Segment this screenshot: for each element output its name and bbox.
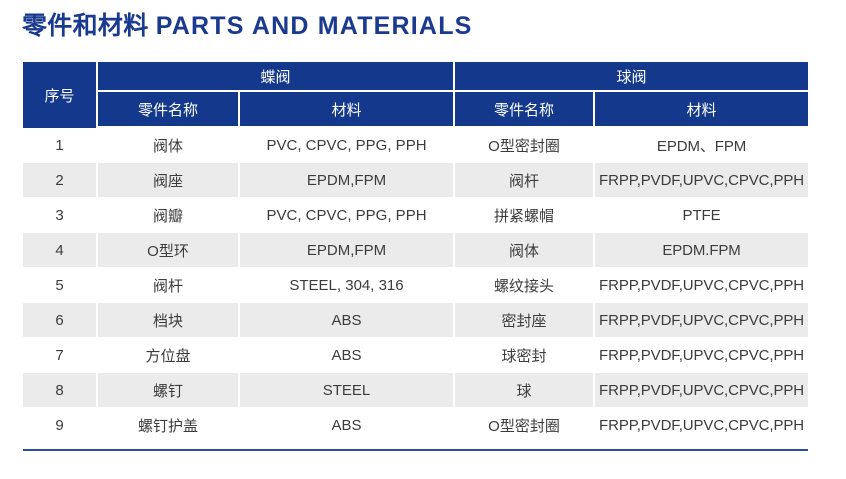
cell-ball-part-name: 阀体 bbox=[455, 233, 595, 268]
table-bottom-rule bbox=[23, 449, 808, 451]
table-row: 4O型环EPDM,FPM阀体EPDM.FPM bbox=[23, 233, 808, 268]
column-header-butterfly-material: 材料 bbox=[240, 92, 455, 128]
cell-butterfly-material: PVC, CPVC, PPG, PPH bbox=[240, 128, 455, 163]
cell-butterfly-part-name: 螺钉 bbox=[98, 373, 240, 408]
table-row: 3阀瓣PVC, CPVC, PPG, PPH拼紧螺帽PTFE bbox=[23, 198, 808, 233]
column-header-ball-part-name: 零件名称 bbox=[455, 92, 595, 128]
page-title-en: PARTS AND MATERIALS bbox=[156, 12, 473, 40]
column-header-seq: 序号 bbox=[23, 62, 98, 128]
cell-ball-material: FRPP,PVDF,UPVC,CPVC,PPH bbox=[595, 268, 808, 303]
cell-butterfly-part-name: 档块 bbox=[98, 303, 240, 338]
parts-and-materials-table: 序号 蝶阀 球阀 零件名称 材料 零件名称 材料 1阀体PVC, CPVC, P… bbox=[23, 62, 808, 443]
cell-seq: 8 bbox=[23, 373, 98, 408]
cell-seq: 5 bbox=[23, 268, 98, 303]
cell-ball-material: FRPP,PVDF,UPVC,CPVC,PPH bbox=[595, 163, 808, 198]
cell-butterfly-part-name: 阀瓣 bbox=[98, 198, 240, 233]
cell-ball-part-name: 阀杆 bbox=[455, 163, 595, 198]
cell-ball-part-name: 拼紧螺帽 bbox=[455, 198, 595, 233]
cell-butterfly-part-name: 阀座 bbox=[98, 163, 240, 198]
page-title-cn: 零件和材料 bbox=[22, 12, 149, 40]
table-row: 1阀体PVC, CPVC, PPG, PPHO型密封圈EPDM、FPM bbox=[23, 128, 808, 163]
parts-table-wrapper: 序号 蝶阀 球阀 零件名称 材料 零件名称 材料 1阀体PVC, CPVC, P… bbox=[23, 62, 808, 443]
column-group-header-butterfly-valve: 蝶阀 bbox=[98, 62, 455, 92]
cell-seq: 7 bbox=[23, 338, 98, 373]
table-header: 序号 蝶阀 球阀 零件名称 材料 零件名称 材料 bbox=[23, 62, 808, 128]
cell-ball-part-name: 螺纹接头 bbox=[455, 268, 595, 303]
table-row: 8螺钉STEEL球FRPP,PVDF,UPVC,CPVC,PPH bbox=[23, 373, 808, 408]
cell-butterfly-part-name: 阀杆 bbox=[98, 268, 240, 303]
cell-ball-material: FRPP,PVDF,UPVC,CPVC,PPH bbox=[595, 373, 808, 408]
cell-butterfly-part-name: 方位盘 bbox=[98, 338, 240, 373]
cell-butterfly-part-name: O型环 bbox=[98, 233, 240, 268]
cell-ball-part-name: O型密封圈 bbox=[455, 128, 595, 163]
cell-butterfly-material: PVC, CPVC, PPG, PPH bbox=[240, 198, 455, 233]
cell-seq: 4 bbox=[23, 233, 98, 268]
column-header-ball-material: 材料 bbox=[595, 92, 808, 128]
table-row: 5阀杆STEEL, 304, 316螺纹接头FRPP,PVDF,UPVC,CPV… bbox=[23, 268, 808, 303]
cell-seq: 9 bbox=[23, 408, 98, 443]
cell-ball-material: FRPP,PVDF,UPVC,CPVC,PPH bbox=[595, 408, 808, 443]
cell-seq: 1 bbox=[23, 128, 98, 163]
cell-butterfly-material: ABS bbox=[240, 408, 455, 443]
cell-ball-part-name: O型密封圈 bbox=[455, 408, 595, 443]
cell-butterfly-material: STEEL, 304, 316 bbox=[240, 268, 455, 303]
cell-butterfly-material: STEEL bbox=[240, 373, 455, 408]
cell-butterfly-material: ABS bbox=[240, 338, 455, 373]
column-group-header-ball-valve: 球阀 bbox=[455, 62, 808, 92]
page-title: 零件和材料 PARTS AND MATERIALS bbox=[22, 10, 473, 42]
cell-ball-material: FRPP,PVDF,UPVC,CPVC,PPH bbox=[595, 338, 808, 373]
table-header-row-groups: 序号 蝶阀 球阀 bbox=[23, 62, 808, 92]
cell-ball-material: FRPP,PVDF,UPVC,CPVC,PPH bbox=[595, 303, 808, 338]
table-row: 9螺钉护盖ABSO型密封圈FRPP,PVDF,UPVC,CPVC,PPH bbox=[23, 408, 808, 443]
cell-seq: 2 bbox=[23, 163, 98, 198]
table-header-row-subs: 零件名称 材料 零件名称 材料 bbox=[23, 92, 808, 128]
cell-ball-material: EPDM、FPM bbox=[595, 128, 808, 163]
table-row: 6档块ABS密封座FRPP,PVDF,UPVC,CPVC,PPH bbox=[23, 303, 808, 338]
table-row: 7方位盘ABS球密封FRPP,PVDF,UPVC,CPVC,PPH bbox=[23, 338, 808, 373]
cell-butterfly-material: ABS bbox=[240, 303, 455, 338]
page-root: 零件和材料 PARTS AND MATERIALS 序号 蝶阀 球阀 零件名称 … bbox=[0, 0, 846, 479]
cell-ball-part-name: 球 bbox=[455, 373, 595, 408]
cell-ball-material: PTFE bbox=[595, 198, 808, 233]
table-row: 2阀座EPDM,FPM阀杆FRPP,PVDF,UPVC,CPVC,PPH bbox=[23, 163, 808, 198]
cell-ball-part-name: 密封座 bbox=[455, 303, 595, 338]
cell-butterfly-material: EPDM,FPM bbox=[240, 233, 455, 268]
cell-butterfly-part-name: 阀体 bbox=[98, 128, 240, 163]
cell-seq: 3 bbox=[23, 198, 98, 233]
cell-butterfly-material: EPDM,FPM bbox=[240, 163, 455, 198]
table-body: 1阀体PVC, CPVC, PPG, PPHO型密封圈EPDM、FPM2阀座EP… bbox=[23, 128, 808, 443]
cell-ball-material: EPDM.FPM bbox=[595, 233, 808, 268]
column-header-butterfly-part-name: 零件名称 bbox=[98, 92, 240, 128]
cell-butterfly-part-name: 螺钉护盖 bbox=[98, 408, 240, 443]
cell-seq: 6 bbox=[23, 303, 98, 338]
cell-ball-part-name: 球密封 bbox=[455, 338, 595, 373]
